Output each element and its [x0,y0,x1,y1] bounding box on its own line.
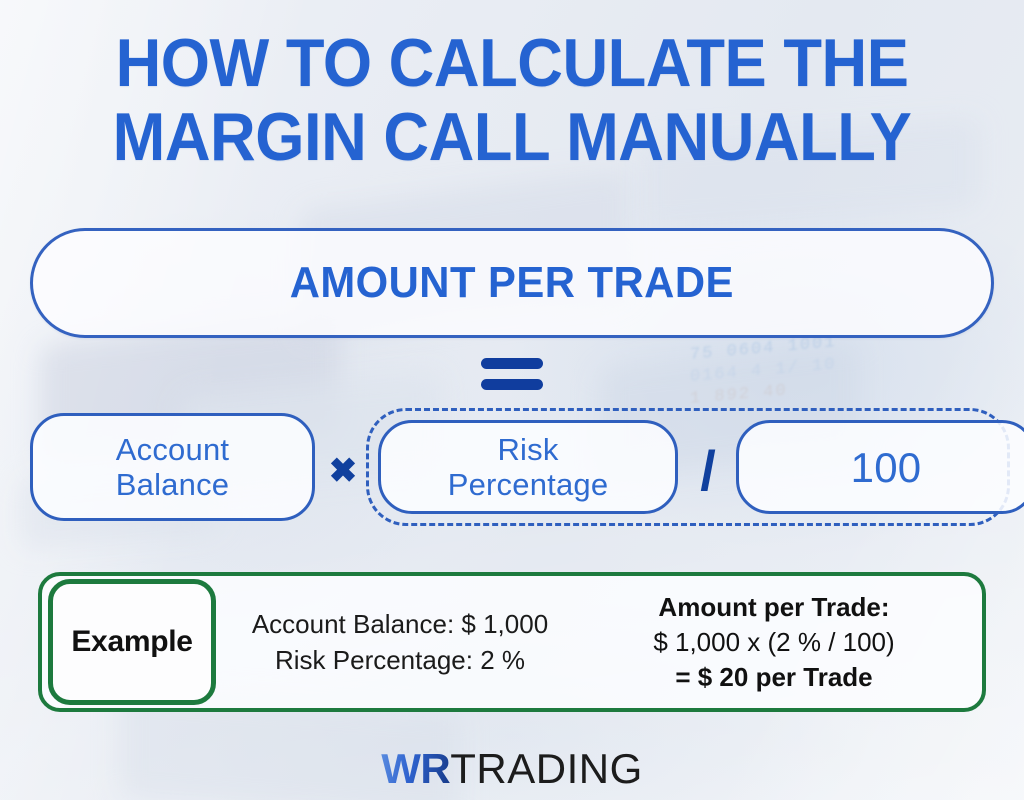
term-risk-percentage: Risk Percentage [378,420,678,514]
term-account-balance-line-1: Account [116,432,229,467]
multiply-operator-icon: ✖ [326,454,360,488]
term-account-balance-line-2: Balance [116,467,229,502]
wr-trading-logo: WRTRADING [0,746,1024,792]
example-result: Amount per Trade: $ 1,000 x (2 % / 100) … [584,590,982,695]
equals-bar-bottom [481,379,543,390]
term-risk-percentage-line-1: Risk [497,432,558,467]
term-account-balance-text: Account Balance [116,432,229,502]
equals-bar-top [481,358,543,369]
equals-sign-icon [481,358,543,392]
example-result-heading: Amount per Trade: [584,590,964,625]
term-account-balance: Account Balance [30,413,315,521]
page-title-line-2: MARGIN CALL MANUALLY [36,100,988,174]
example-result-total: = $ 20 per Trade [584,660,964,695]
term-risk-percentage-text: Risk Percentage [448,432,609,502]
term-risk-percentage-line-2: Percentage [448,467,609,502]
page-title-line-1: HOW TO CALCULATE THE [36,26,988,100]
formula-row: Account Balance ✖ Risk Percentage / 100 [30,408,1010,526]
page-title: HOW TO CALCULATE THE MARGIN CALL MANUALL… [36,26,988,174]
logo-mark-wr: WR [381,745,450,792]
logo-wordmark-trading: TRADING [450,745,643,792]
term-hundred: 100 [736,420,1024,514]
divide-operator-icon: / [691,442,725,502]
example-result-calculation: $ 1,000 x (2 % / 100) [584,625,964,660]
amount-per-trade-banner: AMOUNT PER TRADE [30,228,994,338]
example-inputs: Account Balance: $ 1,000 Risk Percentage… [216,606,584,678]
amount-per-trade-label: AMOUNT PER TRADE [290,258,734,308]
example-input-risk-percentage: Risk Percentage: 2 % [216,642,584,678]
infographic-page: 75 0604 1001 0164 4 1/ 10 1 892 40 HOW T… [0,0,1024,800]
example-panel: Example Account Balance: $ 1,000 Risk Pe… [38,572,986,712]
example-badge: Example [48,579,216,705]
example-input-account-balance: Account Balance: $ 1,000 [216,606,584,642]
